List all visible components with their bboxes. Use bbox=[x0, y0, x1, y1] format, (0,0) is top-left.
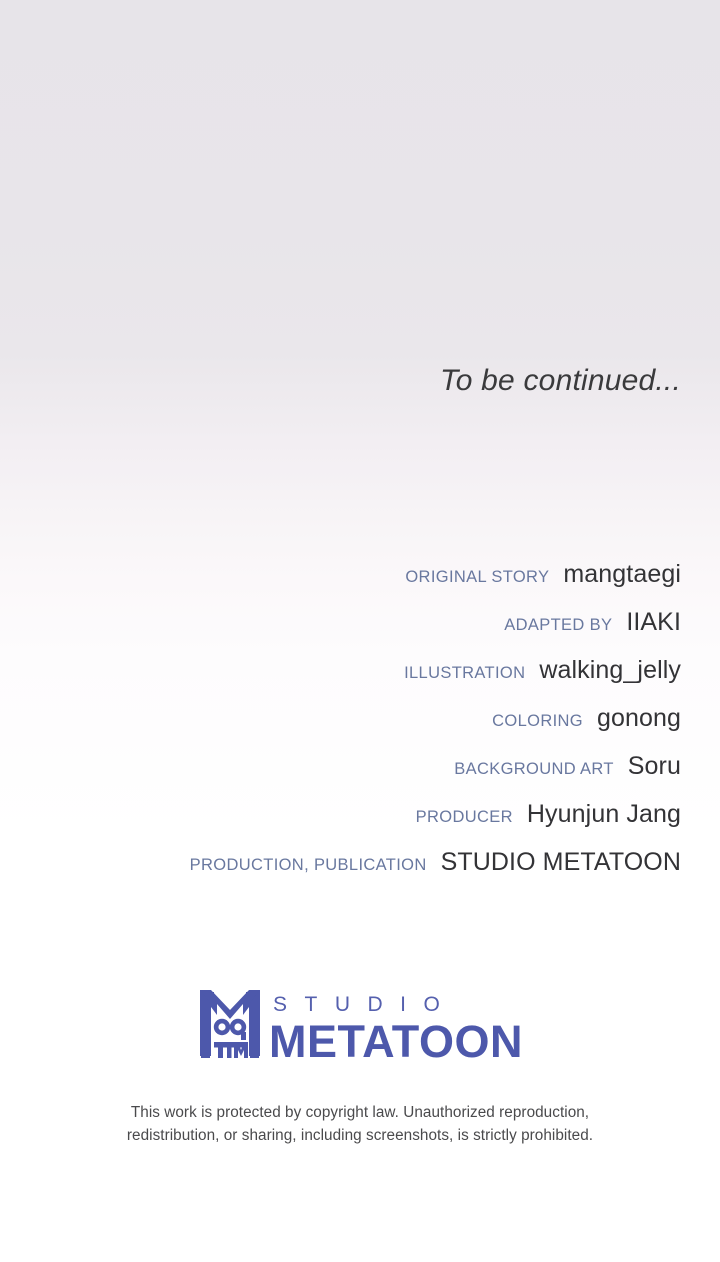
copyright-line-2: redistribution, or sharing, including sc… bbox=[0, 1125, 720, 1148]
credit-label: PRODUCTION, PUBLICATION bbox=[190, 856, 427, 875]
credit-label: PRODUCER bbox=[416, 808, 513, 827]
credit-value: mangtaegi bbox=[563, 560, 681, 589]
credits-block: ORIGINAL STORY mangtaegi ADAPTED BY IIAK… bbox=[0, 560, 720, 896]
credit-label: ADAPTED BY bbox=[504, 616, 612, 635]
webtoon-episode-end-page: To be continued... ORIGINAL STORY mangta… bbox=[0, 0, 720, 1262]
credit-value: Hyunjun Jang bbox=[527, 800, 681, 829]
credit-value: STUDIO METATOON bbox=[441, 848, 681, 877]
metatoon-cat-mark-icon bbox=[197, 984, 263, 1062]
credit-label: ILLUSTRATION bbox=[404, 664, 525, 683]
credit-row-adapted-by: ADAPTED BY IIAKI bbox=[504, 608, 681, 656]
credit-label: BACKGROUND ART bbox=[454, 760, 614, 779]
studio-metatoon-logo: STUDIO METATOON bbox=[197, 984, 523, 1063]
credit-value: Soru bbox=[628, 752, 681, 781]
credit-value: walking_jelly bbox=[539, 656, 681, 685]
credit-label: COLORING bbox=[492, 712, 583, 731]
credit-value: IIAKI bbox=[626, 608, 681, 637]
copyright-line-1: This work is protected by copyright law.… bbox=[0, 1102, 720, 1125]
credit-value: gonong bbox=[597, 704, 681, 733]
credit-row-producer: PRODUCER Hyunjun Jang bbox=[416, 800, 681, 848]
credit-row-illustration: ILLUSTRATION walking_jelly bbox=[404, 656, 681, 704]
credit-row-production-publication: PRODUCTION, PUBLICATION STUDIO METATOON bbox=[190, 848, 681, 896]
logo-wordmark-group: STUDIO METATOON bbox=[269, 994, 523, 1063]
copyright-notice: This work is protected by copyright law.… bbox=[0, 1102, 720, 1148]
logo-metatoon-wordmark: METATOON bbox=[269, 1020, 523, 1063]
to-be-continued-text: To be continued... bbox=[0, 364, 720, 398]
logo-studio-text: STUDIO bbox=[273, 994, 457, 1015]
credit-label: ORIGINAL STORY bbox=[405, 568, 549, 587]
credit-row-background-art: BACKGROUND ART Soru bbox=[454, 752, 681, 800]
studio-logo-block: STUDIO METATOON bbox=[0, 984, 720, 1063]
credit-row-original-story: ORIGINAL STORY mangtaegi bbox=[405, 560, 681, 608]
credit-row-coloring: COLORING gonong bbox=[492, 704, 681, 752]
